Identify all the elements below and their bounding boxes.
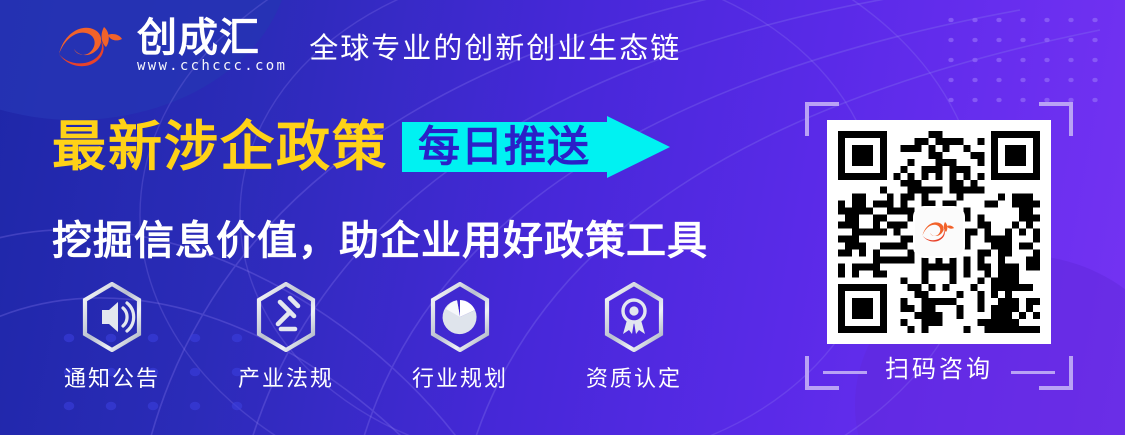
qr-caption: 扫码咨询 [805,349,1073,384]
dot-grid-top-right [939,10,1111,106]
feature-item-certification[interactable]: 资质认定 [566,282,702,393]
hero-subheadline: 挖掘信息价值，助企业用好政策工具 [52,208,708,266]
hero-headline: 最新涉企政策 [52,120,388,174]
award-medal-icon [602,282,666,352]
logo-url: www.cchccc.com [137,59,287,73]
hero-headline-row: 最新涉企政策 每日推送 [52,116,590,178]
arrow-badge: 每日推送 [402,116,590,178]
pie-chart-icon [428,282,492,352]
brand-tagline: 全球专业的创新创业生态链 [309,25,681,67]
qr-code-image [838,131,1040,333]
feature-label: 产业法规 [238,361,334,393]
qr-code[interactable] [827,120,1051,344]
feature-label: 通知公告 [64,361,160,393]
feature-list: 通知公告 产业法规 行业规划 [44,282,702,393]
feature-label: 资质认定 [586,361,682,393]
feature-item-regulation[interactable]: 产业法规 [218,282,354,393]
feature-item-planning[interactable]: 行业规划 [392,282,528,393]
qr-panel: 扫码咨询 [805,102,1073,390]
banner-header: 创成汇 www.cchccc.com 全球专业的创新创业生态链 [56,18,681,73]
feature-label: 行业规划 [412,361,508,393]
brand-logo[interactable]: 创成汇 www.cchccc.com [56,18,287,73]
arrow-badge-label: 每日推送 [402,126,590,168]
logo-name: 创成汇 [137,18,287,58]
qr-center-logo [915,208,963,256]
speaker-icon [80,282,144,352]
flame-bird-logo-icon [921,219,957,245]
promo-banner: 创成汇 www.cchccc.com 全球专业的创新创业生态链 最新涉企政策 每… [0,0,1125,435]
gavel-icon [254,282,318,352]
feature-item-notice[interactable]: 通知公告 [44,282,180,393]
flame-bird-logo-icon [56,21,128,73]
